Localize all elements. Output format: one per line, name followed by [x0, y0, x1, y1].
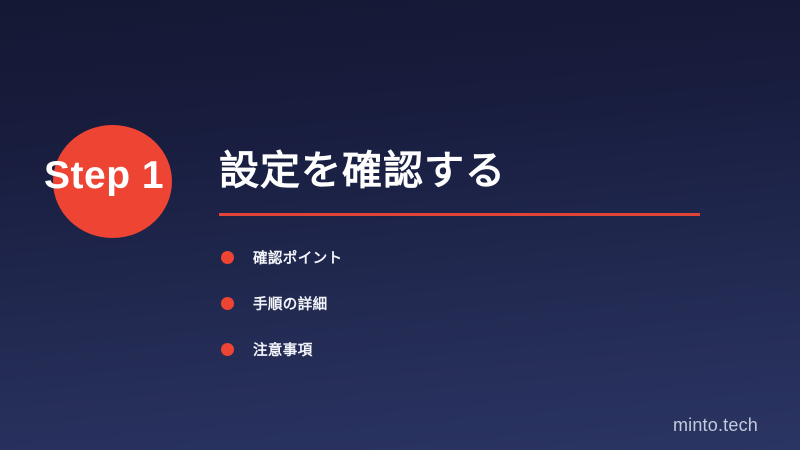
step-badge-label: Step 1 [44, 153, 164, 199]
title-divider [219, 213, 700, 216]
dot-bullet-icon [221, 343, 234, 356]
list-item-label: 手順の詳細 [253, 293, 328, 314]
list-item: 手順の詳細 [221, 280, 701, 326]
list-item-label: 確認ポイント [253, 247, 342, 268]
list-item: 確認ポイント [221, 234, 701, 280]
list-item-label: 注意事項 [253, 339, 313, 360]
slide-canvas: Step 1 設定を確認する 確認ポイント 手順の詳細 注意事項 minto.t… [0, 0, 800, 450]
footer-brand: minto.tech [673, 415, 758, 436]
dot-bullet-icon [221, 251, 234, 264]
bullet-list: 確認ポイント 手順の詳細 注意事項 [221, 234, 701, 372]
dot-bullet-icon [221, 297, 234, 310]
list-item: 注意事項 [221, 326, 701, 372]
page-title: 設定を確認する [219, 146, 506, 196]
